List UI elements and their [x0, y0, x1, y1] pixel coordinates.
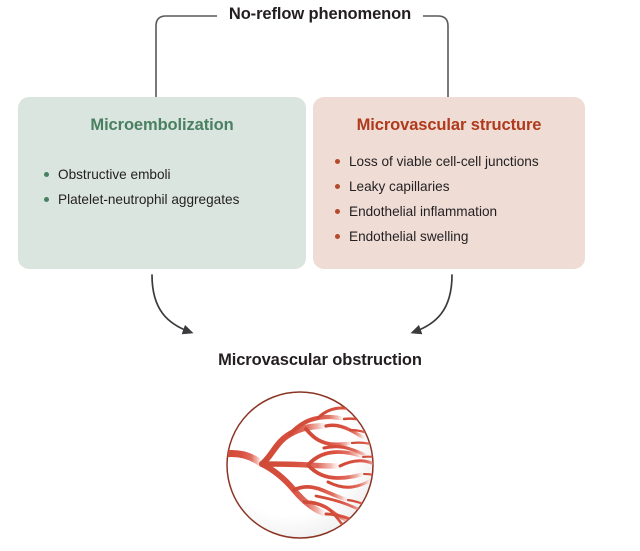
- bullet-dot-icon: [335, 209, 340, 214]
- microvascular-obstruction-illustration: [218, 386, 382, 546]
- panel-microembolization-list: Obstructive emboli Platelet-neutrophil a…: [44, 162, 306, 212]
- bullet-dot-icon: [44, 197, 49, 202]
- list-item: Obstructive emboli: [44, 162, 306, 187]
- bullet-dot-icon: [335, 184, 340, 189]
- panel-microembolization-title: Microembolization: [18, 116, 306, 135]
- page-title: No-reflow phenomenon: [0, 5, 640, 24]
- list-item-label: Obstructive emboli: [58, 167, 171, 182]
- panel-microvascular-structure: Microvascular structure Loss of viable c…: [313, 97, 585, 269]
- panel-microvascular-structure-title: Microvascular structure: [313, 116, 585, 135]
- list-item-label: Loss of viable cell-cell junctions: [349, 154, 539, 169]
- panel-microembolization: Microembolization Obstructive emboli Pla…: [18, 97, 306, 269]
- list-item-label: Leaky capillaries: [349, 179, 450, 194]
- list-item: Leaky capillaries: [335, 174, 585, 199]
- bottom-label: Microvascular obstruction: [0, 351, 640, 370]
- bullet-dot-icon: [335, 159, 340, 164]
- arrow-left: [152, 275, 190, 332]
- list-item: Platelet-neutrophil aggregates: [44, 187, 306, 212]
- list-item-label: Platelet-neutrophil aggregates: [58, 192, 239, 207]
- page-title-text: No-reflow phenomenon: [217, 5, 423, 24]
- list-item: Endothelial swelling: [335, 224, 585, 249]
- no-reflow-diagram: No-reflow phenomenon Microembolization O…: [0, 0, 640, 551]
- arrow-right: [414, 275, 452, 332]
- connector-arrows: [0, 260, 640, 360]
- list-item: Endothelial inflammation: [335, 199, 585, 224]
- list-item-label: Endothelial inflammation: [349, 204, 497, 219]
- list-item: Loss of viable cell-cell junctions: [335, 149, 585, 174]
- bullet-dot-icon: [44, 172, 49, 177]
- list-item-label: Endothelial swelling: [349, 229, 468, 244]
- bullet-dot-icon: [335, 234, 340, 239]
- panel-microvascular-structure-list: Loss of viable cell-cell junctions Leaky…: [335, 149, 585, 249]
